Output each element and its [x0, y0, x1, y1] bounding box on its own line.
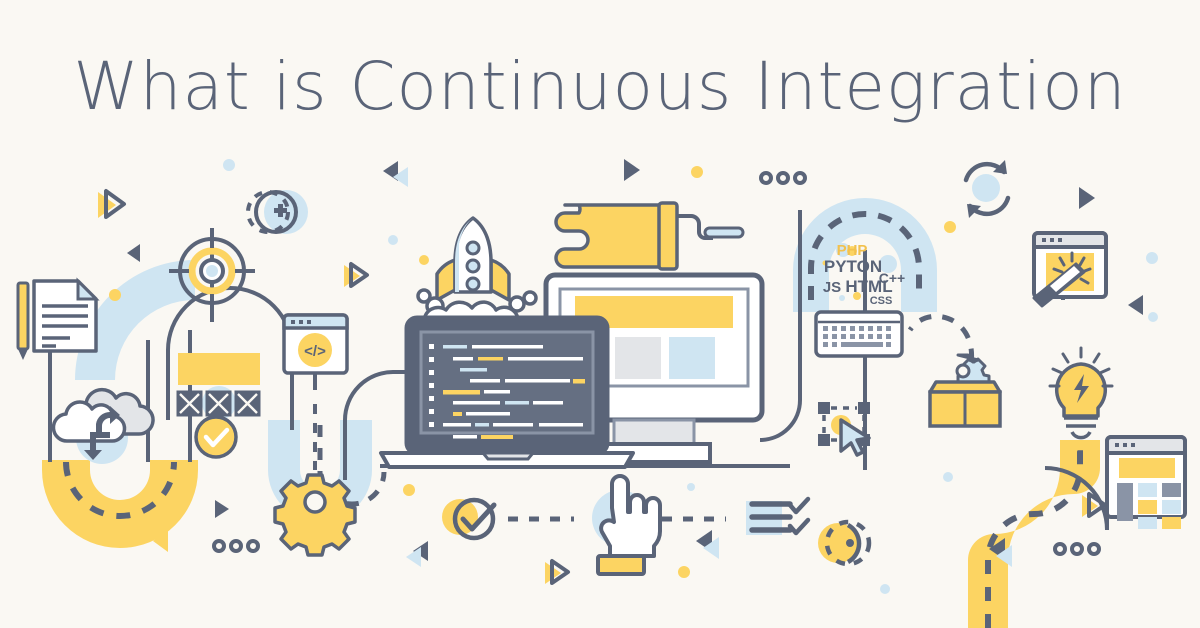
- refresh-sync-icon: [966, 160, 1008, 218]
- rocket-launch-icon: [418, 218, 536, 332]
- continuous-integration-illustration: </>: [0, 0, 1200, 628]
- dashed-circle-decoration: [248, 190, 308, 234]
- check-circle-icon: [196, 417, 236, 457]
- laptop-code-editor: [381, 318, 633, 467]
- connector-arc: [760, 210, 800, 440]
- cloud-sync-icon: [53, 390, 153, 464]
- triangle-decoration: [1082, 494, 1105, 517]
- checklist-icon: [746, 499, 808, 535]
- triangle-decoration: [344, 264, 367, 287]
- code-browser-window-icon: </>: [284, 315, 347, 373]
- triangle-decoration: [127, 244, 140, 262]
- three-dots-decoration: [761, 173, 805, 183]
- keyboard-icon: [816, 312, 902, 356]
- crosshair-target-icon: [169, 228, 255, 314]
- three-dots-decoration: [1055, 544, 1099, 554]
- language-tag-css: CSS: [870, 295, 893, 307]
- lightbulb-bolt-icon: [1050, 348, 1112, 438]
- selection-cursor-icon: [818, 402, 870, 455]
- gear-icon: [275, 475, 355, 555]
- language-tag-pyton: PYTON: [824, 257, 882, 276]
- triangle-decoration: [624, 159, 640, 181]
- svg-text:</>: </>: [304, 343, 326, 360]
- package-box-gear-icon: [930, 355, 1000, 426]
- triangle-decoration: [696, 530, 719, 559]
- dashboard-browser-window-icon: [1107, 437, 1185, 529]
- dashed-circle-decoration: [818, 522, 869, 564]
- triangle-decoration: [215, 500, 229, 518]
- triangle-decoration: [545, 561, 568, 584]
- paint-roller-icon: [556, 203, 743, 269]
- three-dots-decoration: [214, 541, 258, 551]
- triangle-decoration: [98, 191, 124, 218]
- check-circle-outline-icon: [442, 499, 494, 538]
- language-tag-html: HTML: [845, 277, 892, 296]
- triangle-decoration: [1079, 187, 1095, 209]
- triangle-decoration: [1128, 295, 1143, 315]
- triangle-decoration: [406, 541, 428, 567]
- language-tag-js: JS: [823, 279, 841, 296]
- illustration-canvas: What is Continuous Integration: [0, 0, 1200, 628]
- magic-wand-browser-icon: [1034, 233, 1106, 306]
- pointer-hand-icon: [592, 476, 660, 574]
- document-with-pencil-icon: [18, 281, 96, 360]
